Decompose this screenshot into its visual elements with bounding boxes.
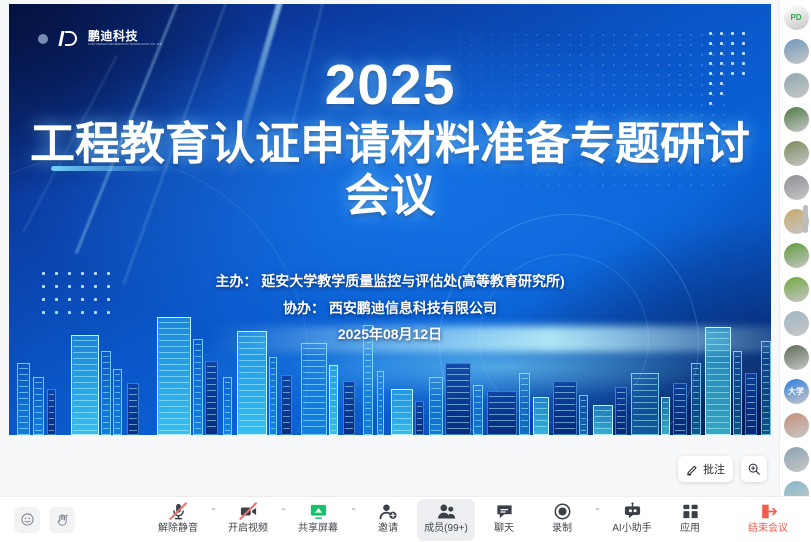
skyline-building <box>519 373 530 435</box>
rail-scrollbar-thumb[interactable] <box>803 205 808 233</box>
skyline-building <box>157 317 191 435</box>
skyline-building <box>553 381 577 435</box>
skyline-building <box>363 325 373 435</box>
participant-thumbnail[interactable] <box>780 136 811 170</box>
participant-avatar-4 <box>784 141 809 166</box>
skyline-building <box>761 341 771 435</box>
skyline-building <box>593 405 613 435</box>
skyline-building <box>429 377 443 435</box>
toolbar-left-group <box>0 507 75 533</box>
chat-bubble-icon-wrap <box>495 502 514 521</box>
record-circle-icon-wrap <box>553 502 572 521</box>
skyline-building <box>127 383 139 435</box>
members-button-label: 成员(99+) <box>424 523 468 534</box>
decorative-light-streak <box>285 4 335 151</box>
participant-avatar-logo: PD <box>784 5 809 30</box>
annotate-button[interactable]: 批注 <box>678 456 733 482</box>
skyline-building <box>269 357 277 435</box>
end-meeting-button[interactable]: 结束会议 <box>739 499 797 541</box>
decorative-arc <box>479 254 649 424</box>
add-person-icon <box>379 502 398 521</box>
skyline-building <box>487 391 517 435</box>
ai-robot-icon <box>623 502 642 521</box>
participant-thumbnail-rail[interactable]: PD大学 <box>779 0 811 496</box>
skyline-building <box>193 339 203 435</box>
ai-robot-icon-wrap <box>623 502 642 521</box>
toolbar-right-group: 结束会议 <box>739 499 811 541</box>
decorative-light-streak <box>226 4 298 180</box>
grid-apps-icon-wrap <box>681 502 700 521</box>
decorative-arc <box>9 154 309 435</box>
skyline-building <box>71 335 99 435</box>
skyline-building <box>281 375 292 435</box>
skyline-building <box>377 371 384 435</box>
participant-thumbnail[interactable]: PD <box>780 0 811 34</box>
brand-name-en: XI'AN PENGDI INFORMATION TECHNOLOGY CO.,… <box>88 43 162 47</box>
skyline-building <box>533 397 549 435</box>
skyline-building <box>745 373 757 435</box>
record-circle-icon <box>553 502 572 521</box>
members-button[interactable]: 成员(99+) <box>417 499 475 541</box>
unmute-button[interactable]: 解除静音 <box>149 499 207 541</box>
smiley-icon <box>20 512 35 527</box>
chat-button-label: 聊天 <box>494 523 514 534</box>
invite-button-label: 邀请 <box>378 523 398 534</box>
skyline-building <box>101 351 111 435</box>
grid-apps-icon <box>681 502 700 521</box>
meeting-toolbar: 解除静音⌃开启视频⌃共享屏幕⌃邀请成员(99+)聊天录制⌃AI小助手应用 结束会… <box>0 496 811 542</box>
decorative-horizon-glow <box>9 304 771 424</box>
chat-button[interactable]: 聊天 <box>475 499 533 541</box>
participant-thumbnail[interactable] <box>780 340 811 374</box>
start-video-button[interactable]: 开启视频 <box>219 499 277 541</box>
decorative-light-streak <box>22 55 118 233</box>
participant-avatar-2 <box>784 73 809 98</box>
share-screen-button[interactable]: 共享屏幕 <box>289 499 347 541</box>
slide-date-line: 2025年08月12日 <box>9 321 771 348</box>
reaction-button[interactable] <box>14 507 40 533</box>
raise-hand-icon <box>55 512 70 527</box>
meeting-window: 鹏迪科技 XI'AN PENGDI INFORMATION TECHNOLOGY… <box>0 0 811 542</box>
brand-mark-icon <box>57 30 79 47</box>
avatar-initials: PD <box>790 13 801 22</box>
brand-bullet-icon <box>38 34 48 44</box>
participant-thumbnail[interactable] <box>780 102 811 136</box>
skyline-building <box>415 401 424 435</box>
presentation-slide: 鹏迪科技 XI'AN PENGDI INFORMATION TECHNOLOGY… <box>9 4 771 435</box>
slide-brand-logo: 鹏迪科技 XI'AN PENGDI INFORMATION TECHNOLOGY… <box>38 30 162 47</box>
skyline-building <box>113 369 122 435</box>
skyline-building <box>733 351 742 435</box>
participant-avatar-12 <box>784 413 809 438</box>
participant-avatar-10 <box>784 345 809 370</box>
skyline-building <box>691 363 701 435</box>
record-button[interactable]: 录制 <box>533 499 591 541</box>
share-screen-button-label: 共享屏幕 <box>298 523 338 534</box>
record-button-chevron-up-icon[interactable]: ⌃ <box>594 508 601 516</box>
participant-thumbnail[interactable] <box>780 442 811 476</box>
share-screen-icon <box>309 502 328 521</box>
skyline-building <box>301 343 327 435</box>
people-icon-wrap <box>437 502 456 521</box>
stage-annotation-toolbar: 批注 <box>678 456 767 482</box>
skyline-building <box>237 331 267 435</box>
skyline-building <box>661 397 670 435</box>
microphone-muted-icon-wrap <box>169 502 188 521</box>
participant-avatar-9 <box>784 311 809 336</box>
slide-year: 2025 <box>9 56 771 116</box>
unmute-button-chevron-up-icon[interactable]: ⌃ <box>210 508 217 516</box>
skyline-building <box>445 363 471 435</box>
decorative-horizon-beam <box>209 326 771 352</box>
annotate-label: 批注 <box>703 461 725 477</box>
participant-thumbnail[interactable] <box>780 476 811 496</box>
participant-thumbnail[interactable] <box>780 170 811 204</box>
participant-avatar-8 <box>784 277 809 302</box>
participant-avatar-11: 大学 <box>784 379 809 404</box>
record-button-label: 录制 <box>552 523 572 534</box>
participant-avatar-7 <box>784 243 809 268</box>
skyline-building <box>223 377 232 435</box>
share-screen-button-chevron-up-icon[interactable]: ⌃ <box>350 508 357 516</box>
slide-host-line: 主办： 延安大学教学质量监控与评估处(高等教育研究所) <box>9 268 771 295</box>
invite-button[interactable]: 邀请 <box>359 499 417 541</box>
participant-thumbnail[interactable] <box>780 34 811 68</box>
skyline-building <box>329 365 338 435</box>
skyline-building <box>673 383 687 435</box>
decorative-arc <box>439 214 699 435</box>
skyline-building <box>17 363 30 435</box>
slide-cohost-line: 协办： 西安鹏迪信息科技有限公司 <box>9 295 771 322</box>
participant-thumbnail[interactable] <box>780 238 811 272</box>
apps-button-label: 应用 <box>680 523 700 534</box>
city-skyline-illustration <box>9 300 771 435</box>
title-underline-decoration <box>51 166 171 171</box>
participant-avatar-1 <box>784 39 809 64</box>
share-screen-icon-wrap <box>309 502 328 521</box>
avatar-initials: 大学 <box>788 386 804 397</box>
brand-name-cn: 鹏迪科技 <box>88 30 162 43</box>
exit-door-icon <box>759 502 778 521</box>
participant-thumbnail[interactable]: 大学 <box>780 374 811 408</box>
ai-assistant-button[interactable]: AI小助手 <box>603 499 661 541</box>
participant-avatar-13 <box>784 447 809 472</box>
skyline-building <box>205 361 218 435</box>
people-icon <box>437 502 456 521</box>
camera-muted-icon-wrap <box>239 502 258 521</box>
participant-thumbnail[interactable] <box>780 272 811 306</box>
start-video-button-label: 开启视频 <box>228 523 268 534</box>
skyline-building <box>391 389 413 435</box>
toolbar-center-group: 解除静音⌃开启视频⌃共享屏幕⌃邀请成员(99+)聊天录制⌃AI小助手应用 <box>75 499 739 541</box>
skyline-building <box>631 373 659 435</box>
shared-screen-stage[interactable]: 鹏迪科技 XI'AN PENGDI INFORMATION TECHNOLOGY… <box>0 0 779 496</box>
zoom-in-button[interactable] <box>741 456 767 482</box>
participant-thumbnail[interactable] <box>780 306 811 340</box>
participant-avatar-5 <box>784 175 809 200</box>
participant-avatar-3 <box>784 107 809 132</box>
add-person-icon-wrap <box>379 502 398 521</box>
skyline-building <box>615 387 627 435</box>
skyline-building <box>579 395 588 435</box>
pencil-icon <box>686 463 699 476</box>
ai-assistant-button-label: AI小助手 <box>612 523 651 534</box>
skyline-building <box>473 385 483 435</box>
skyline-building <box>33 377 44 435</box>
raise-hand-button[interactable] <box>49 507 75 533</box>
unmute-button-label: 解除静音 <box>158 523 198 534</box>
apps-button[interactable]: 应用 <box>661 499 719 541</box>
skyline-building <box>705 327 731 435</box>
participant-avatar-14 <box>784 481 809 497</box>
magnifier-plus-icon <box>747 462 761 476</box>
skyline-building <box>47 389 56 435</box>
slide-bg-corner-glow-2 <box>471 215 771 435</box>
end-meeting-button-label: 结束会议 <box>748 523 788 534</box>
chat-bubble-icon <box>495 502 514 521</box>
participant-thumbnail[interactable] <box>780 68 811 102</box>
start-video-button-chevron-up-icon[interactable]: ⌃ <box>280 508 287 516</box>
skyline-building <box>343 381 355 435</box>
participant-thumbnail[interactable] <box>780 408 811 442</box>
exit-door-icon-wrap <box>759 502 778 521</box>
